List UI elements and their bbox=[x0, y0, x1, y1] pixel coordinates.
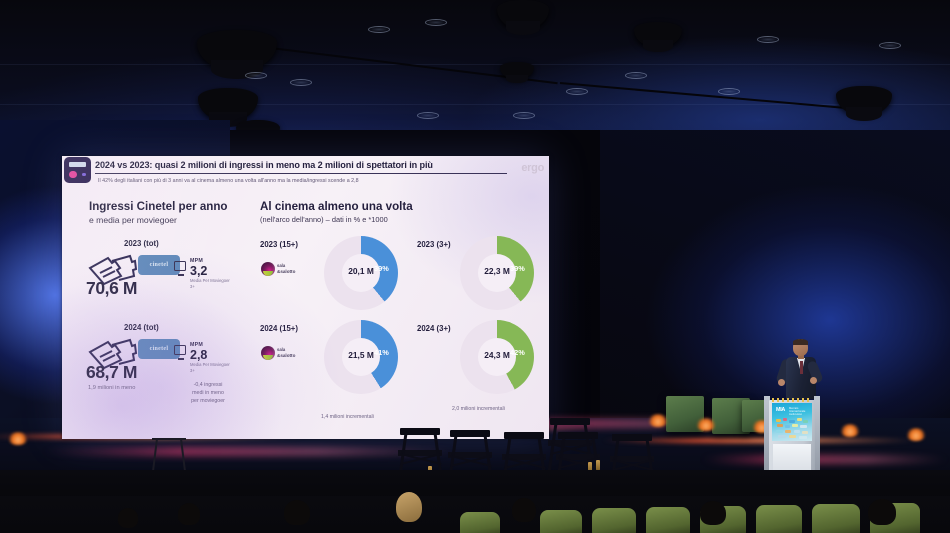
speaker-hair bbox=[793, 339, 808, 345]
speaker-tie bbox=[800, 361, 803, 374]
sala-salotto-logo: sala &salotto bbox=[261, 346, 305, 360]
sala-salotto-mark-icon bbox=[261, 346, 275, 360]
delta-note-2024: 1,9 milioni in meno bbox=[88, 385, 135, 391]
audience-seat bbox=[540, 510, 582, 533]
audience-head bbox=[700, 501, 726, 525]
ergo-brand-label: ergo bbox=[521, 162, 544, 174]
audience-head bbox=[178, 503, 200, 525]
left-column-title: Ingressi Cinetel per anno bbox=[89, 200, 228, 213]
ceiling-speaker-icon bbox=[836, 86, 892, 116]
audience-seat bbox=[812, 504, 860, 533]
right-column-title: Al cinema almeno una volta bbox=[260, 200, 413, 213]
right-wall-blue-light bbox=[600, 130, 950, 430]
donut-pct-2023-3plus: 39% bbox=[510, 264, 525, 273]
salotto-line1: sala bbox=[277, 347, 285, 352]
audience-seat bbox=[460, 512, 500, 533]
mpm-value-2024: 2,8 bbox=[190, 348, 207, 362]
slide-subtitle: Il 42% degli italiani con più di 3 anni … bbox=[98, 178, 498, 184]
ingressi-value-2024: 68,7 M bbox=[86, 362, 137, 383]
floor-light-icon bbox=[696, 418, 716, 431]
moviegoer-icon bbox=[174, 345, 186, 355]
podium: MIA Mercato Internazionale Audiovisivo bbox=[764, 392, 820, 482]
left-column-subtitle: e media per moviegoer bbox=[89, 215, 177, 225]
donut-label-2024-3plus: 2024 (3+) bbox=[417, 324, 451, 333]
audience-head bbox=[396, 492, 422, 522]
ceiling-light-icon bbox=[417, 112, 439, 119]
donut-pct-2024-15plus: 41% bbox=[374, 348, 389, 357]
year-label-2024-tot: 2024 (tot) bbox=[124, 323, 159, 332]
audience-seat bbox=[592, 508, 636, 533]
donut-chart-2024-3plus: 24,3 M 42% bbox=[460, 320, 534, 394]
donut-pct-2023-15plus: 39% bbox=[374, 264, 389, 273]
sala-salotto-mark-icon bbox=[261, 262, 275, 276]
footnote-incrementali-15plus: 1,4 milioni incrementali bbox=[321, 414, 374, 420]
audience-head bbox=[512, 498, 536, 522]
mia-logo-sub: Mercato Internazionale Audiovisivo bbox=[789, 407, 809, 417]
speaker-left-hand bbox=[778, 379, 785, 386]
audience-head bbox=[868, 499, 896, 525]
ceiling-light-icon bbox=[245, 72, 267, 79]
audience-head bbox=[118, 508, 138, 528]
ceiling-light-icon bbox=[625, 72, 647, 79]
slide-content: 2024 vs 2023: quasi 2 milioni di ingress… bbox=[62, 156, 549, 439]
audience-seat bbox=[756, 505, 802, 533]
ceiling-light-icon bbox=[718, 88, 740, 95]
podium-led-strip bbox=[772, 398, 812, 402]
donut-label-2024-15plus: 2024 (15+) bbox=[260, 324, 298, 333]
donut-label-2023-3plus: 2023 (3+) bbox=[417, 240, 451, 249]
ceiling-light-icon bbox=[290, 79, 312, 86]
ceiling-light-icon bbox=[425, 19, 447, 26]
speaker-person bbox=[777, 339, 829, 399]
mpm-caption-2023: Media Per Moviegoer 3+ bbox=[190, 278, 232, 290]
floor-light-icon bbox=[906, 428, 926, 441]
speaker-right-hand bbox=[810, 377, 817, 384]
mia-branding-panel: MIA Mercato Internazionale Audiovisivo bbox=[772, 403, 812, 441]
audience-seat bbox=[646, 507, 690, 533]
ceiling-light-icon bbox=[513, 112, 535, 119]
projection-screen: 2024 vs 2023: quasi 2 milioni di ingress… bbox=[62, 156, 549, 439]
ceiling-speaker-icon bbox=[634, 22, 682, 48]
ceiling-speaker-icon bbox=[197, 30, 277, 72]
sala-salotto-logo-icon bbox=[64, 157, 91, 183]
floor-light-icon bbox=[840, 424, 860, 437]
salotto-line2: &salotto bbox=[277, 353, 295, 358]
floor-light-icon bbox=[8, 432, 28, 445]
slide-title: 2024 vs 2023: quasi 2 milioni di ingress… bbox=[95, 160, 507, 174]
conference-stage-scene: 2024 vs 2023: quasi 2 milioni di ingress… bbox=[0, 0, 950, 533]
donut-chart-2024-15plus: 21,5 M 41% bbox=[324, 320, 398, 394]
right-column-subtitle: (nell'arco dell'anno) – dati in % e *100… bbox=[260, 215, 388, 224]
floor-light-icon bbox=[648, 414, 668, 427]
ingressi-value-2023: 70,6 M bbox=[86, 278, 137, 299]
ceiling-speaker-icon bbox=[198, 88, 258, 122]
salotto-line2: &salotto bbox=[277, 269, 295, 274]
audience-area bbox=[0, 496, 950, 533]
mpm-caption-2024: Media Per Moviegoer 3+ bbox=[190, 362, 232, 374]
year-label-2023-tot: 2023 (tot) bbox=[124, 239, 159, 248]
donut-chart-2023-15plus: 20,1 M 39% bbox=[324, 236, 398, 310]
donut-pct-2024-3plus: 42% bbox=[510, 348, 525, 357]
ceiling-light-icon bbox=[368, 26, 390, 33]
moviegoer-icon bbox=[174, 261, 186, 271]
mia-logo-label: MIA bbox=[776, 407, 785, 413]
sala-salotto-logo: sala &salotto bbox=[261, 262, 305, 276]
footnote-incrementali-3plus: 2,0 milioni incrementali bbox=[452, 406, 505, 412]
donut-chart-2023-3plus: 22,3 M 39% bbox=[460, 236, 534, 310]
ceiling-light-icon bbox=[566, 88, 588, 95]
salotto-line1: sala bbox=[277, 263, 285, 268]
mpm-delta-note-2024: -0,4 ingressi medi in meno per moviegoer bbox=[188, 382, 228, 406]
mpm-value-2023: 3,2 bbox=[190, 264, 207, 278]
audience-head bbox=[284, 500, 310, 525]
ceiling-light-icon bbox=[879, 42, 901, 49]
donut-label-2023-15plus: 2023 (15+) bbox=[260, 240, 298, 249]
ceiling-speaker-icon bbox=[497, 0, 549, 30]
equipment-stand bbox=[152, 438, 186, 472]
ceiling-light-icon bbox=[757, 36, 779, 43]
